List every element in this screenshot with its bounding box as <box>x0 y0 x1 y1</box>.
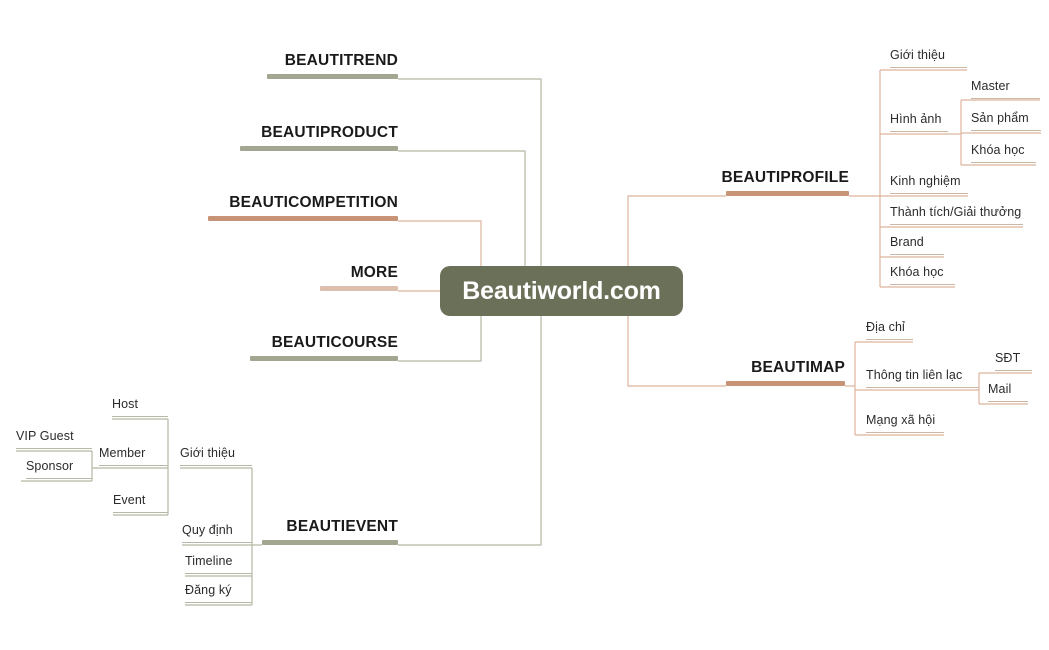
branch-beauticourse[interactable]: BEAUTICOURSE <box>250 331 398 361</box>
branch-label-beauticompetition: BEAUTICOMPETITION <box>229 194 398 212</box>
center-node-label: Beautiworld.com <box>462 277 660 306</box>
branch-bar-beauticompetition <box>208 216 398 221</box>
leaf-event-gioithieu[interactable]: Giới thiệu <box>180 446 252 466</box>
branch-beautiproduct[interactable]: BEAUTIPRODUCT <box>240 121 398 151</box>
branch-label-beautimap: BEAUTIMAP <box>751 359 845 377</box>
branch-bar-more <box>320 286 398 291</box>
leaf-map-mangxahoi[interactable]: Mạng xã hội <box>866 413 944 433</box>
leaf-hinhanh-sanpham[interactable]: Sản phẩm <box>971 111 1041 131</box>
leaf-profile-kinhnghiem[interactable]: Kinh nghiệm <box>890 174 968 194</box>
center-node[interactable]: Beautiworld.com <box>440 266 683 316</box>
branch-beautimap[interactable]: BEAUTIMAP <box>726 356 845 386</box>
branch-beautiprofile[interactable]: BEAUTIPROFILE <box>726 166 849 196</box>
leaf-event-quydinh[interactable]: Quy định <box>182 523 252 543</box>
branch-label-beautitrend: BEAUTITREND <box>285 52 398 70</box>
leaf-contact-sdt[interactable]: SĐT <box>995 351 1032 371</box>
leaf-contact-mail[interactable]: Mail <box>988 382 1028 402</box>
branch-label-beauticourse: BEAUTICOURSE <box>272 334 398 352</box>
branch-label-beautiproduct: BEAUTIPRODUCT <box>261 124 398 142</box>
leaf-profile-thanhtich[interactable]: Thành tích/Giải thưởng <box>890 205 1023 225</box>
branch-beautievent[interactable]: BEAUTIEVENT <box>262 515 398 545</box>
leaf-profile-gioithieu[interactable]: Giới thiệu <box>890 48 967 68</box>
leaf-event-dangky[interactable]: Đăng ký <box>185 583 252 603</box>
leaf-profile-hinhanh[interactable]: Hình ảnh <box>890 112 948 132</box>
branch-label-beautievent: BEAUTIEVENT <box>286 518 398 536</box>
leaf-map-thongtin[interactable]: Thông tin liên lạc <box>866 368 979 388</box>
leaf-map-diachi[interactable]: Địa chỉ <box>866 320 913 340</box>
link-beautitrend <box>398 79 541 291</box>
branch-bar-beautiprofile <box>726 191 849 196</box>
leaf-intro-event[interactable]: Event <box>113 493 168 513</box>
branch-bar-beauticourse <box>250 356 398 361</box>
mindmap-canvas: Beautiworld.com BEAUTITREND BEAUTIPRODUC… <box>0 0 1049 650</box>
leaf-event-timeline[interactable]: Timeline <box>185 554 252 574</box>
leaf-profile-khoahoc[interactable]: Khóa học <box>890 265 955 285</box>
branch-bar-beautitrend <box>267 74 398 79</box>
leaf-hinhanh-master[interactable]: Master <box>971 79 1040 99</box>
branch-label-more: MORE <box>351 264 398 282</box>
branch-beauticompetition[interactable]: BEAUTICOMPETITION <box>208 191 398 221</box>
branch-bar-beautiproduct <box>240 146 398 151</box>
leaf-profile-brand[interactable]: Brand <box>890 235 944 255</box>
branch-bar-beautimap <box>726 381 845 386</box>
leaf-intro-member[interactable]: Member <box>99 446 168 466</box>
leaf-member-vipguest[interactable]: VIP Guest <box>16 429 92 449</box>
branch-label-beautiprofile: BEAUTIPROFILE <box>722 169 849 187</box>
branch-more[interactable]: MORE <box>320 261 398 291</box>
branch-beautitrend[interactable]: BEAUTITREND <box>267 49 398 79</box>
link-beautievent <box>398 291 541 545</box>
leaf-hinhanh-khoahoc[interactable]: Khóa học <box>971 143 1036 163</box>
leaf-intro-host[interactable]: Host <box>112 397 168 417</box>
branch-bar-beautievent <box>262 540 398 545</box>
leaf-member-sponsor[interactable]: Sponsor <box>26 459 92 479</box>
